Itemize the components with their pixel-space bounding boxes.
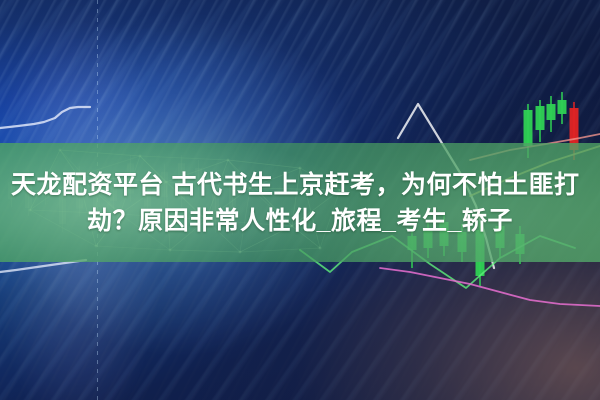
banner-image: 天龙配资平台 古代书生上京赶考，为何不怕土匪打 劫？原因非常人性化_旅程_考生_…	[0, 0, 600, 400]
headline-line-1: 天龙配资平台 古代书生上京赶考，为何不怕土匪打	[11, 170, 579, 200]
headline-text-block: 天龙配资平台 古代书生上京赶考，为何不怕土匪打 劫？原因非常人性化_旅程_考生_…	[0, 143, 600, 262]
headline-line-2: 劫？原因非常人性化_旅程_考生_轿子	[87, 206, 513, 236]
